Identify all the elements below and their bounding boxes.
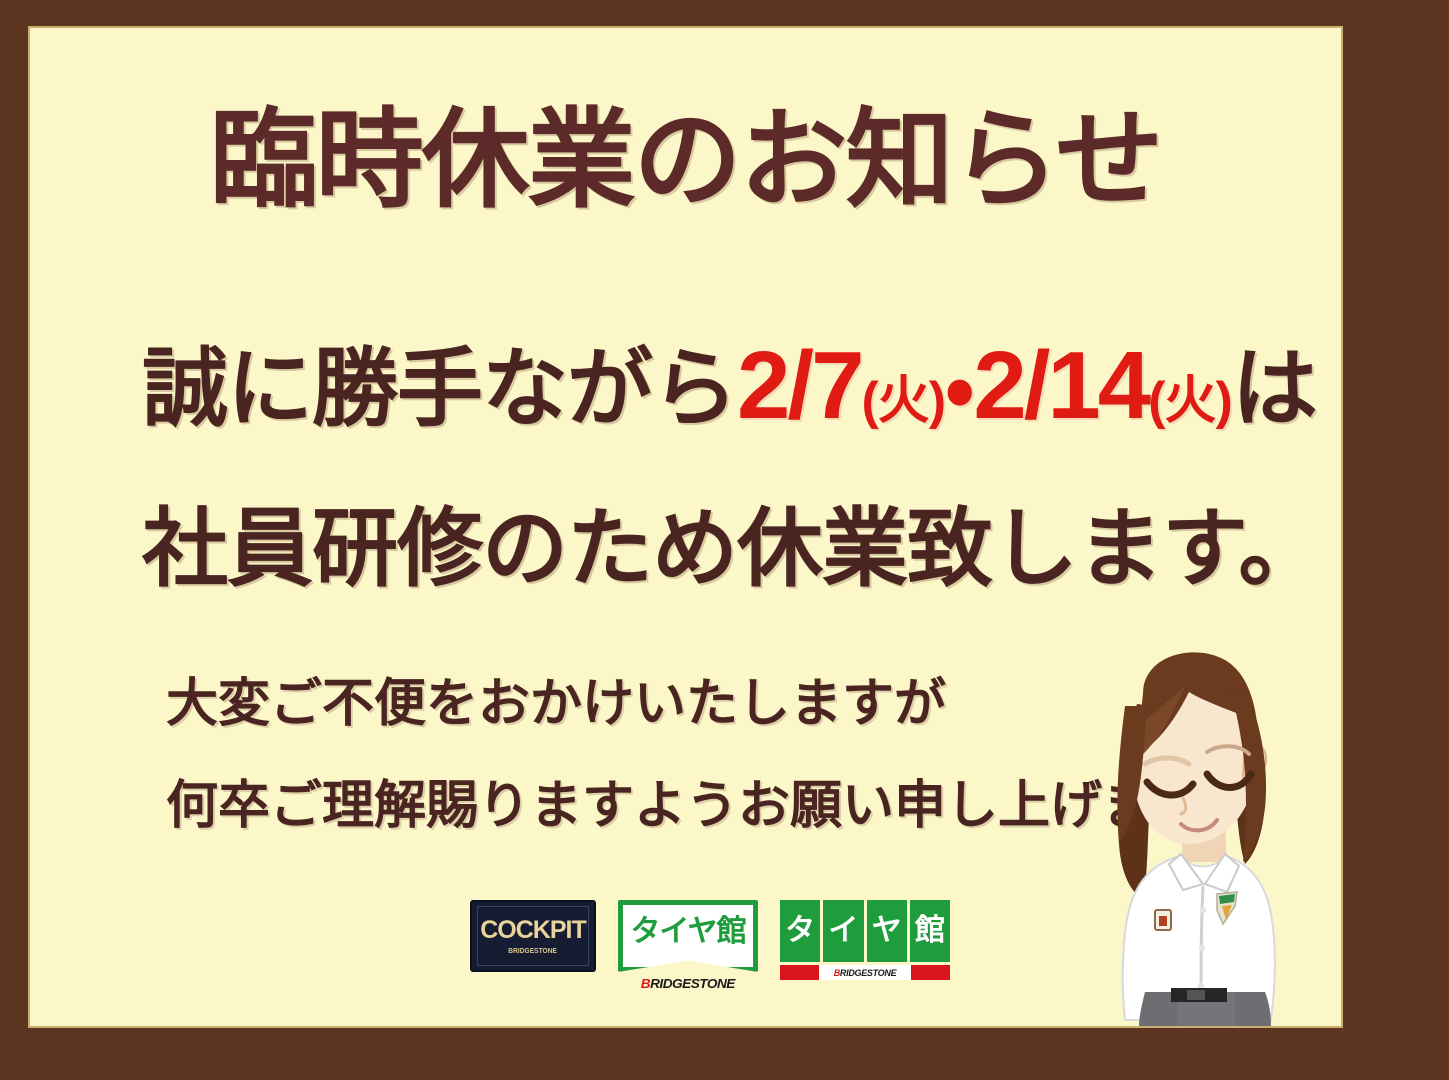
line1-prefix-text: 誠に勝手ながら (142, 341, 737, 437)
shirt-button-1 (1200, 907, 1206, 913)
tireshop-tile-2: イ (823, 900, 863, 962)
tireshop-tiles-row: タ イ ヤ 館 (780, 900, 950, 962)
tireshop-shield-wordmark: タイヤ館 (630, 917, 745, 947)
brand-logo-strip: COCKPIT BRIDGESTONE タイヤ館 BRIDGESTONE タ イ… (470, 900, 980, 1020)
tireshop-shield-banner: タイヤ館 (618, 900, 758, 972)
bridgestone-rest-letters: RIDGESTONE (650, 976, 735, 991)
bridgestone-initial-letter: B (641, 976, 650, 991)
tireshop-tiles-footer: BRIDGESTONE (780, 965, 950, 980)
page-title: 臨時休業のお知らせ (30, 106, 1341, 214)
shirt-button-2 (1199, 945, 1205, 951)
tireshop-red-bar-right (911, 965, 950, 980)
closure-date-1: 2/7 (737, 332, 861, 439)
closure-reason-line: 社員研修のため休業致します。 (142, 506, 1323, 592)
closure-date-2-weekday: (火) (1148, 372, 1232, 430)
tireshop-tile-4: 館 (910, 900, 950, 962)
cockpit-logo-wordmark: COCKPIT (480, 918, 586, 943)
notice-panel: 臨時休業のお知らせ 誠に勝手ながら2/7(火)・2/14(火)は 社員研修のため… (30, 28, 1341, 1026)
closure-date-1-weekday: (火) (861, 372, 945, 430)
bridgestone-wordmark-tiles: BRIDGESTONE (819, 965, 911, 980)
cockpit-logo: COCKPIT BRIDGESTONE (470, 900, 596, 972)
closure-date-2: 2/14 (973, 332, 1148, 439)
bowing-female-staff-illustration (1085, 648, 1341, 1026)
tireshop-tile-3: ヤ (867, 900, 907, 962)
tireshop-tile-1: タ (780, 900, 820, 962)
tireshop-shield-logo: タイヤ館 BRIDGESTONE (618, 900, 758, 991)
bridgestone-wordmark-shield: BRIDGESTONE (641, 976, 735, 991)
date-separator: ・ (945, 341, 973, 437)
notice-poster: 臨時休業のお知らせ 誠に勝手ながら2/7(火)・2/14(火)は 社員研修のため… (0, 0, 1449, 1080)
tireshop-red-bar-left (780, 965, 819, 980)
belt-buckle (1187, 990, 1205, 1000)
apology-line-1: 大変ご不便をおかけいたしますが (166, 678, 946, 730)
name-badge-mark (1159, 916, 1167, 926)
cockpit-logo-subtext: BRIDGESTONE (509, 948, 558, 955)
tireshop-tiles-logo: タ イ ヤ 館 BRIDGESTONE (780, 900, 950, 980)
line1-suffix-text: は (1232, 341, 1317, 437)
closure-dates-line: 誠に勝手ながら2/7(火)・2/14(火)は (142, 338, 1317, 434)
bridgestone-rest-letters-tiles: RIDGESTONE (840, 968, 896, 978)
